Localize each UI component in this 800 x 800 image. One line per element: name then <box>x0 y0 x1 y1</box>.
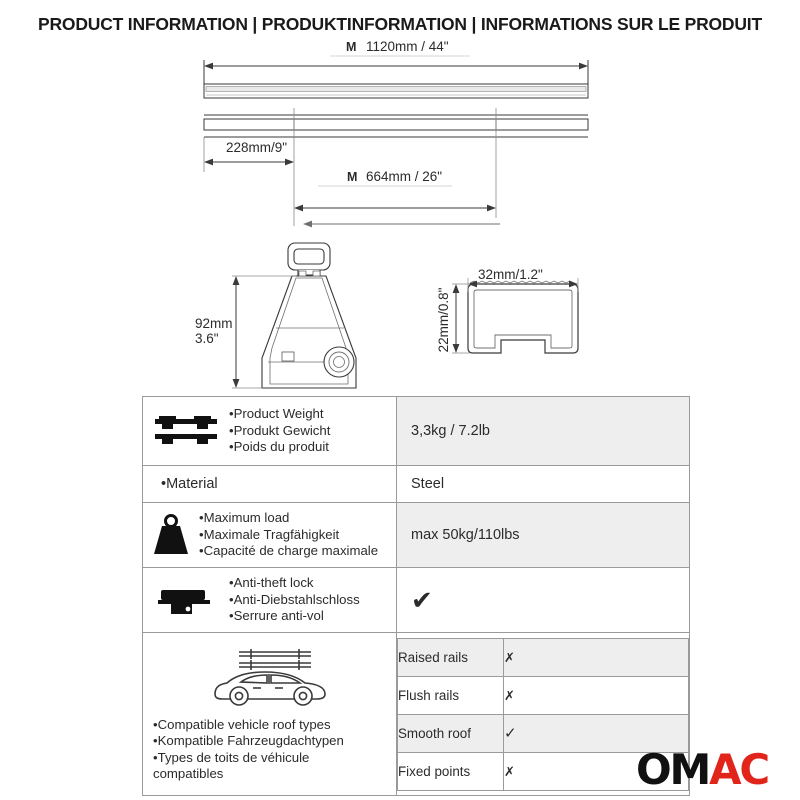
cross-icon: ✗ <box>504 764 515 779</box>
dimension-profile-height <box>452 284 470 353</box>
max-load-label-de: •Maximale Tragfähigkeit <box>199 527 378 543</box>
max-load-label-fr: •Capacité de charge maximale <box>199 543 378 559</box>
roof-option-name: Flush rails <box>398 676 504 714</box>
weight-label-de: •Produkt Gewicht <box>229 423 330 439</box>
weight-value: 3,3kg / 7.2lb <box>397 397 690 466</box>
logo-text-dark: OM <box>636 745 709 794</box>
max-load-label-en: •Maximum load <box>199 510 378 526</box>
lock-label-de: •Anti-Diebstahlschloss <box>229 592 360 608</box>
lock-icon-glyph <box>158 584 214 616</box>
roof-option-name: Smooth roof <box>398 714 504 752</box>
table-row: •Material Steel <box>143 466 690 503</box>
profile-height-value: 22mm/0.8" <box>436 287 451 352</box>
overall-length-prefix: M <box>346 40 356 54</box>
drawing-canvas: M 1120mm / 44" 228mm/9" M 664mm / 26" 92… <box>0 40 800 390</box>
max-load-label-cell: •Maximum load •Maximale Tragfähigkeit •C… <box>143 503 397 568</box>
material-label-cell: •Material <box>143 466 397 503</box>
detail-leader <box>303 221 500 228</box>
lock-icon <box>143 584 229 616</box>
table-row: •Compatible vehicle roof types •Kompatib… <box>143 633 690 796</box>
roof-option-mark: ✗ <box>504 638 689 676</box>
table-row: •Maximum load •Maximale Tragfähigkeit •C… <box>143 503 690 568</box>
profile-width-value: 32mm/1.2" <box>478 267 543 282</box>
lock-label-en: •Anti-theft lock <box>229 575 360 591</box>
cross-icon: ✗ <box>504 650 515 665</box>
dimension-bar-spread <box>294 205 496 226</box>
table-row: •Product Weight •Produkt Gewicht •Poids … <box>143 397 690 466</box>
lock-label-fr: •Serrure anti-vol <box>229 608 360 624</box>
crossbars-icon <box>143 414 229 448</box>
crossbar-plan-view <box>204 108 588 218</box>
weight-label-en: •Product Weight <box>229 406 330 422</box>
roof-types-label-cell: •Compatible vehicle roof types •Kompatib… <box>143 633 397 796</box>
roof-label-fr-cont: compatibles <box>153 766 396 783</box>
page-title: PRODUCT INFORMATION | PRODUKTINFORMATION… <box>0 14 800 35</box>
logo-text-red: AC <box>709 745 768 794</box>
omac-logo: OMAC <box>636 748 768 792</box>
roof-label-fr: •Types de toits de véhicule <box>153 750 396 767</box>
material-label: •Material <box>153 476 396 492</box>
roof-label-en: •Compatible vehicle roof types <box>153 717 396 734</box>
foot-front-view <box>262 243 356 388</box>
dimension-end-offset <box>204 159 294 166</box>
bar-cross-section <box>468 281 578 353</box>
weight-icon-glyph <box>151 514 191 556</box>
weight-label-cell: •Product Weight •Produkt Gewicht •Poids … <box>143 397 397 466</box>
weight-icon <box>143 514 199 556</box>
foot-height-inch: 3.6" <box>195 331 219 346</box>
spread-value: 664mm / 26" <box>366 169 442 184</box>
table-row: •Anti-theft lock •Anti-Diebstahlschloss … <box>143 568 690 633</box>
roof-types-label-text: •Compatible vehicle roof types •Kompatib… <box>143 717 396 783</box>
car-with-rack-icon-glyph <box>207 644 333 706</box>
max-load-label-text: •Maximum load •Maximale Tragfähigkeit •C… <box>199 510 378 559</box>
roof-label-de: •Kompatible Fahrzeugdachtypen <box>153 733 396 750</box>
roof-option-row: Raised rails ✗ <box>398 638 689 676</box>
overall-length-value: 1120mm / 44" <box>366 40 449 54</box>
check-icon: ✓ <box>504 725 517 742</box>
roof-option-mark: ✗ <box>504 676 689 714</box>
crossbars-icon-glyph <box>153 414 219 448</box>
weight-label-fr: •Poids du produit <box>229 439 330 455</box>
end-offset-value: 228mm/9" <box>226 140 287 155</box>
cross-icon: ✗ <box>504 688 515 703</box>
weight-label-text: •Product Weight •Produkt Gewicht •Poids … <box>229 406 330 455</box>
lock-label-cell: •Anti-theft lock •Anti-Diebstahlschloss … <box>143 568 397 633</box>
foot-height-value: 92mm <box>195 316 233 331</box>
check-icon: ✔ <box>411 585 433 615</box>
specification-table: •Product Weight •Produkt Gewicht •Poids … <box>142 396 690 796</box>
max-load-value: max 50kg/110lbs <box>397 503 690 568</box>
lock-value: ✔ <box>397 568 690 633</box>
technical-drawing: M 1120mm / 44" 228mm/9" M 664mm / 26" 92… <box>0 40 800 390</box>
car-with-rack-icon <box>143 644 396 711</box>
roof-option-name: Raised rails <box>398 638 504 676</box>
roof-option-name: Fixed points <box>398 752 504 790</box>
crossbar-side-view <box>204 84 588 98</box>
lock-label-text: •Anti-theft lock •Anti-Diebstahlschloss … <box>229 575 360 624</box>
material-value: Steel <box>397 466 690 503</box>
roof-option-row: Flush rails ✗ <box>398 676 689 714</box>
spread-prefix: M <box>347 170 357 184</box>
